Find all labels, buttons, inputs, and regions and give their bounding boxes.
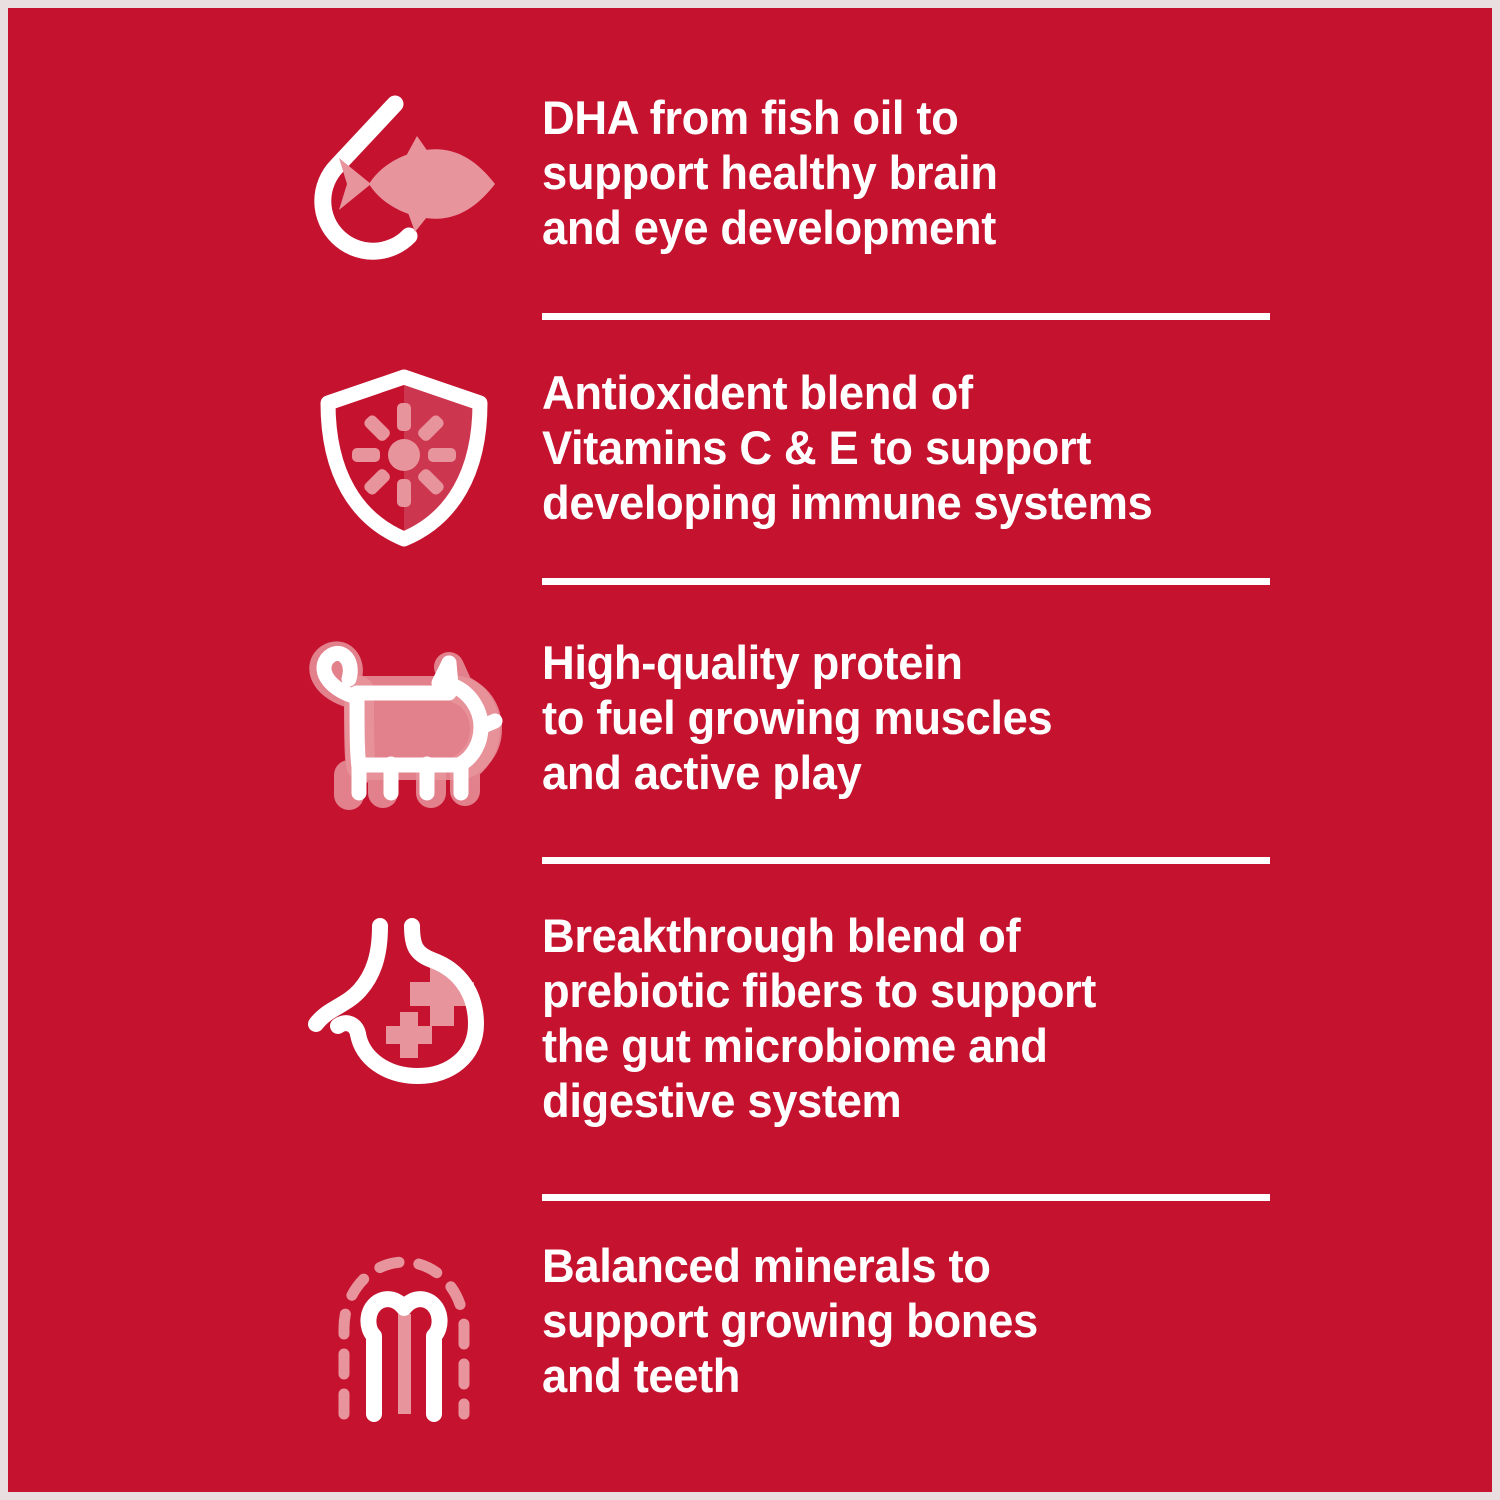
benefit-text: Breakthrough blend of prebiotic fibers t… [542,908,1270,1128]
benefits-panel: DHA from fish oil to support healthy bra… [8,8,1492,1492]
benefit-row: DHA from fish oil to support healthy bra… [266,88,1296,278]
benefit-text-cell: Balanced minerals to support growing bon… [542,1236,1296,1403]
benefit-text: Balanced minerals to support growing bon… [542,1238,1270,1403]
section-divider [542,857,1270,864]
cat-muscle-icon [299,633,509,813]
benefit-icon-cell [266,906,542,1086]
benefit-text-cell: High-quality protein to fuel growing mus… [542,633,1296,800]
benefit-row: Antioxident blend of Vitamins C & E to s… [266,363,1296,553]
benefit-icon-cell [266,633,542,813]
section-divider [542,1194,1270,1201]
benefit-list: DHA from fish oil to support healthy bra… [8,8,1492,1492]
benefit-icon-cell [266,1236,542,1426]
bone-tooth-icon [314,1236,494,1426]
benefit-row: High-quality protein to fuel growing mus… [266,633,1296,813]
benefit-text: High-quality protein to fuel growing mus… [542,635,1270,800]
immune-shield-icon [314,363,494,553]
fish-oil-droplet-icon [299,88,509,278]
stomach-digestion-icon [304,906,504,1086]
section-divider [542,313,1270,320]
benefit-text-cell: Antioxident blend of Vitamins C & E to s… [542,363,1296,530]
section-divider [542,578,1270,585]
benefit-row: Breakthrough blend of prebiotic fibers t… [266,906,1296,1128]
benefit-text: Antioxident blend of Vitamins C & E to s… [542,365,1270,530]
benefit-text: DHA from fish oil to support healthy bra… [542,90,1270,255]
benefit-text-cell: Breakthrough blend of prebiotic fibers t… [542,906,1296,1128]
benefit-icon-cell [266,363,542,553]
benefit-icon-cell [266,88,542,278]
benefit-row: Balanced minerals to support growing bon… [266,1236,1296,1426]
benefit-text-cell: DHA from fish oil to support healthy bra… [542,88,1296,255]
